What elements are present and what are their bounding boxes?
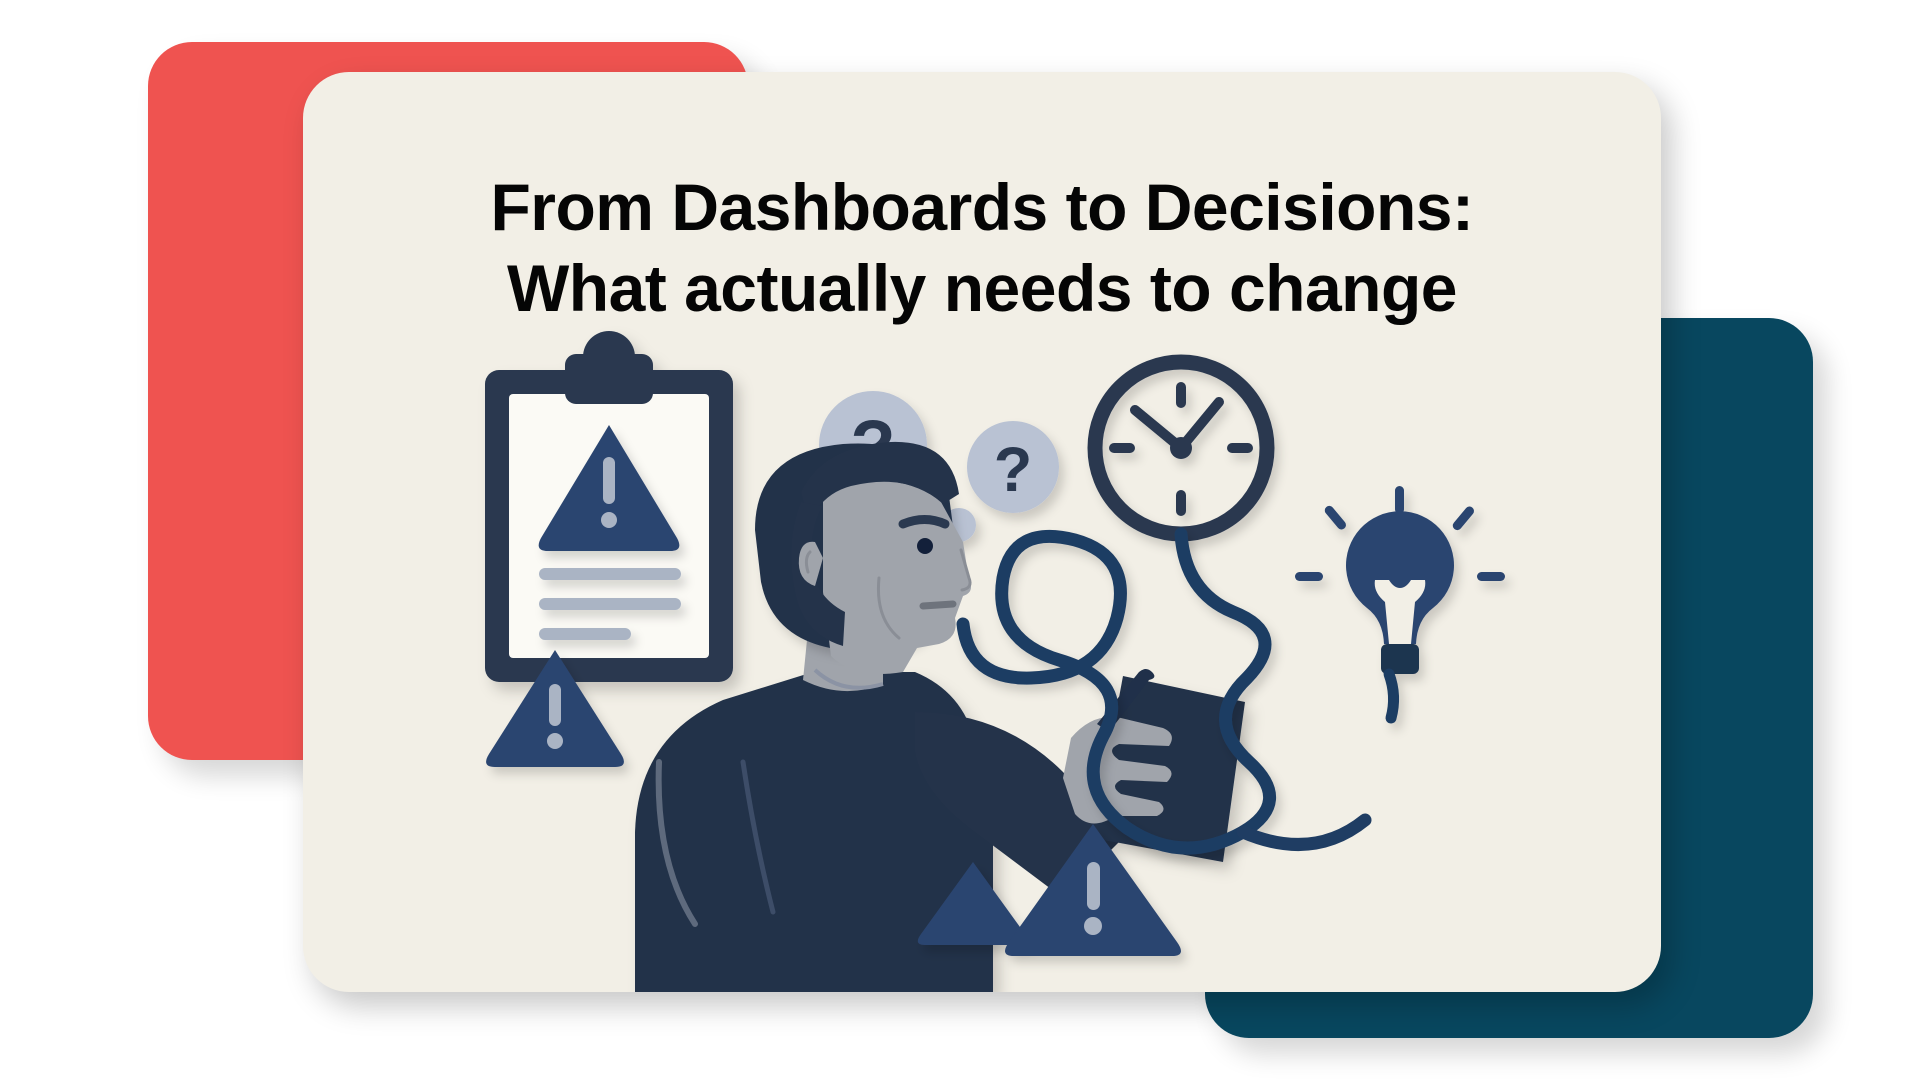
person-analyst <box>635 442 1123 992</box>
page-title: From Dashboards to Decisions: What actua… <box>303 167 1661 328</box>
warning-triangle-small-bottom <box>918 862 1028 945</box>
clipboard <box>485 331 733 682</box>
thought-bubble-small-question: ? <box>967 421 1059 513</box>
writing-hand <box>1063 717 1172 824</box>
main-content-card: From Dashboards to Decisions: What actua… <box>303 72 1661 992</box>
warning-triangle-on-clipboard <box>539 425 680 551</box>
question-mark-glyph: ? <box>994 435 1032 505</box>
warning-triangle-bottom-right <box>1005 824 1181 956</box>
clock-hour-hand <box>1135 410 1181 448</box>
thought-bubble-dots <box>890 508 976 590</box>
page-title-line-2: What actually needs to change <box>343 248 1621 329</box>
clipboard-text-lines <box>539 568 681 640</box>
stylus-pen <box>1097 669 1154 732</box>
thought-bubble-large-question: ? <box>819 391 927 499</box>
lightbulb-rays <box>1295 486 1505 581</box>
question-mark-glyph: ? <box>850 405 895 488</box>
tangled-path <box>963 534 1365 848</box>
tablet <box>1093 676 1245 862</box>
clock-minute-hand <box>1181 402 1219 448</box>
slide-canvas: From Dashboards to Decisions: What actua… <box>0 0 1920 1080</box>
page-title-line-1: From Dashboards to Decisions: <box>343 167 1621 248</box>
warning-triangle-left <box>486 650 624 767</box>
wall-clock <box>1095 362 1267 534</box>
lightbulb-base <box>1381 644 1419 674</box>
lightbulb <box>1295 486 1505 718</box>
